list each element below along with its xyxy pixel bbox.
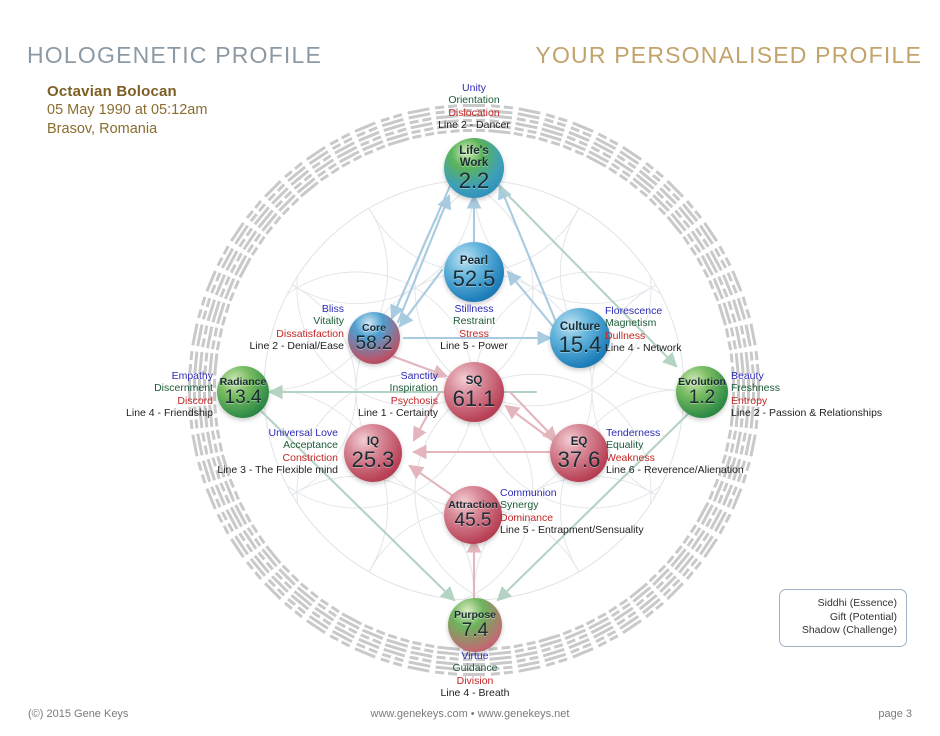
sphere-lifes-work-value: 2.2 — [459, 169, 490, 192]
keys-core: Bliss Vitality Dissatisfaction Line 2 - … — [198, 303, 344, 353]
iq-siddhi: Universal Love — [190, 427, 338, 439]
sphere-culture[interactable]: Culture 15.4 — [550, 308, 610, 368]
attraction-gift: Synergy — [500, 499, 720, 511]
sphere-culture-title: Culture — [560, 321, 600, 333]
sphere-iq[interactable]: IQ 25.3 — [344, 424, 402, 482]
lifes-work-siddhi: Unity — [394, 82, 554, 94]
keys-purpose: Virtue Guidance Division Line 4 - Breath — [395, 650, 555, 700]
evolution-gift: Freshness — [731, 382, 940, 394]
culture-siddhi: Florescence — [605, 305, 785, 317]
purpose-line: Line 4 - Breath — [395, 687, 555, 699]
eq-siddhi: Tenderness — [606, 427, 816, 439]
sq-line: Line 1 - Certainty — [296, 407, 438, 419]
keys-culture: Florescence Magnetism Dullness Line 4 - … — [605, 305, 785, 355]
sphere-iq-value: 25.3 — [352, 448, 395, 471]
lifes-work-shadow: Dislocation — [394, 107, 554, 119]
sphere-sq-title: SQ — [466, 375, 483, 387]
sphere-radiance-value: 13.4 — [225, 388, 262, 408]
core-line: Line 2 - Denial/Ease — [198, 340, 344, 352]
sq-gift: Inspiration — [296, 382, 438, 394]
pearl-gift: Restraint — [400, 315, 548, 327]
sphere-culture-value: 15.4 — [559, 333, 602, 356]
pearl-line: Line 5 - Power — [400, 340, 548, 352]
sphere-evolution-value: 1.2 — [689, 388, 715, 408]
keys-radiance: Empathy Discernment Discord Line 4 - Fri… — [78, 370, 213, 420]
sphere-lifes-work[interactable]: Life's Work 2.2 — [444, 138, 504, 198]
keys-pearl: Stillness Restraint Stress Line 5 - Powe… — [400, 303, 548, 353]
core-siddhi: Bliss — [198, 303, 344, 315]
sphere-evolution[interactable]: Evolution 1.2 — [676, 366, 728, 418]
lifes-work-line: Line 2 - Dancer — [394, 119, 554, 131]
profile-page: HOLOGENETIC PROFILE YOUR PERSONALISED PR… — [0, 0, 940, 736]
sphere-attraction-value: 45.5 — [455, 511, 492, 531]
core-gift: Vitality — [198, 315, 344, 327]
sphere-radiance[interactable]: Radiance 13.4 — [217, 366, 269, 418]
legend-box: Siddhi (Essence) Gift (Potential) Shadow… — [779, 589, 907, 647]
sphere-purpose[interactable]: Purpose 7.4 — [448, 598, 502, 652]
legend-shadow: Shadow (Challenge) — [789, 624, 897, 638]
sq-shadow: Psychosis — [296, 395, 438, 407]
keys-evolution: Beauty Freshness Entropy Line 2 - Passio… — [731, 370, 940, 420]
keys-attraction: Communion Synergy Dominance Line 5 - Ent… — [500, 487, 720, 537]
radiance-line: Line 4 - Friendship — [78, 407, 213, 419]
attraction-siddhi: Communion — [500, 487, 720, 499]
eq-gift: Equality — [606, 439, 816, 451]
sphere-lifes-work-title: Life's — [459, 145, 489, 157]
core-shadow: Dissatisfaction — [198, 328, 344, 340]
iq-gift: Acceptance — [190, 439, 338, 451]
connector-culture-to-lifeswork — [500, 186, 556, 322]
culture-line: Line 4 - Network — [605, 342, 785, 354]
keys-sq: Sanctity Inspiration Psychosis Line 1 - … — [296, 370, 438, 420]
iq-line: Line 3 - The Flexible mind — [190, 464, 338, 476]
radiance-gift: Discernment — [78, 382, 213, 394]
sphere-eq-value: 37.6 — [558, 448, 601, 471]
culture-shadow: Dullness — [605, 330, 785, 342]
pearl-shadow: Stress — [400, 328, 548, 340]
keys-eq: Tenderness Equality Weakness Line 6 - Re… — [606, 427, 816, 477]
sphere-core[interactable]: Core 58.2 — [348, 312, 400, 364]
sphere-lifes-work-title2: Work — [460, 157, 489, 169]
evolution-siddhi: Beauty — [731, 370, 940, 382]
keys-lifes-work: Unity Orientation Dislocation Line 2 - D… — [394, 82, 554, 132]
pearl-siddhi: Stillness — [400, 303, 548, 315]
sphere-pearl[interactable]: Pearl 52.5 — [444, 242, 504, 302]
legend-siddhi: Siddhi (Essence) — [789, 597, 897, 611]
lifes-work-gift: Orientation — [394, 94, 554, 106]
footer-page-number: page 3 — [878, 708, 912, 720]
legend-gift: Gift (Potential) — [789, 611, 897, 625]
culture-gift: Magnetism — [605, 317, 785, 329]
sphere-iq-title: IQ — [367, 436, 379, 448]
purpose-gift: Guidance — [395, 662, 555, 674]
footer-websites: www.genekeys.com • www.genekeys.net — [0, 708, 940, 720]
radiance-siddhi: Empathy — [78, 370, 213, 382]
sphere-attraction[interactable]: Attraction 45.5 — [444, 486, 502, 544]
iq-shadow: Constriction — [190, 452, 338, 464]
keys-iq: Universal Love Acceptance Constriction L… — [190, 427, 338, 477]
radiance-shadow: Discord — [78, 395, 213, 407]
purpose-siddhi: Virtue — [395, 650, 555, 662]
sphere-pearl-title: Pearl — [460, 255, 488, 267]
attraction-shadow: Dominance — [500, 512, 720, 524]
attraction-line: Line 5 - Entrapment/Sensuality — [500, 524, 720, 536]
evolution-line: Line 2 - Passion & Relationships — [731, 407, 940, 419]
eq-line: Line 6 - Reverence/Alienation — [606, 464, 816, 476]
eq-shadow: Weakness — [606, 452, 816, 464]
sphere-sq[interactable]: SQ 61.1 — [444, 362, 504, 422]
sphere-core-value: 58.2 — [356, 334, 393, 354]
sphere-eq-title: EQ — [571, 436, 588, 448]
sphere-eq[interactable]: EQ 37.6 — [550, 424, 608, 482]
sphere-pearl-value: 52.5 — [453, 267, 496, 290]
sphere-sq-value: 61.1 — [453, 387, 496, 410]
sphere-purpose-value: 7.4 — [462, 621, 488, 641]
purpose-shadow: Division — [395, 675, 555, 687]
sq-siddhi: Sanctity — [296, 370, 438, 382]
evolution-shadow: Entropy — [731, 395, 940, 407]
